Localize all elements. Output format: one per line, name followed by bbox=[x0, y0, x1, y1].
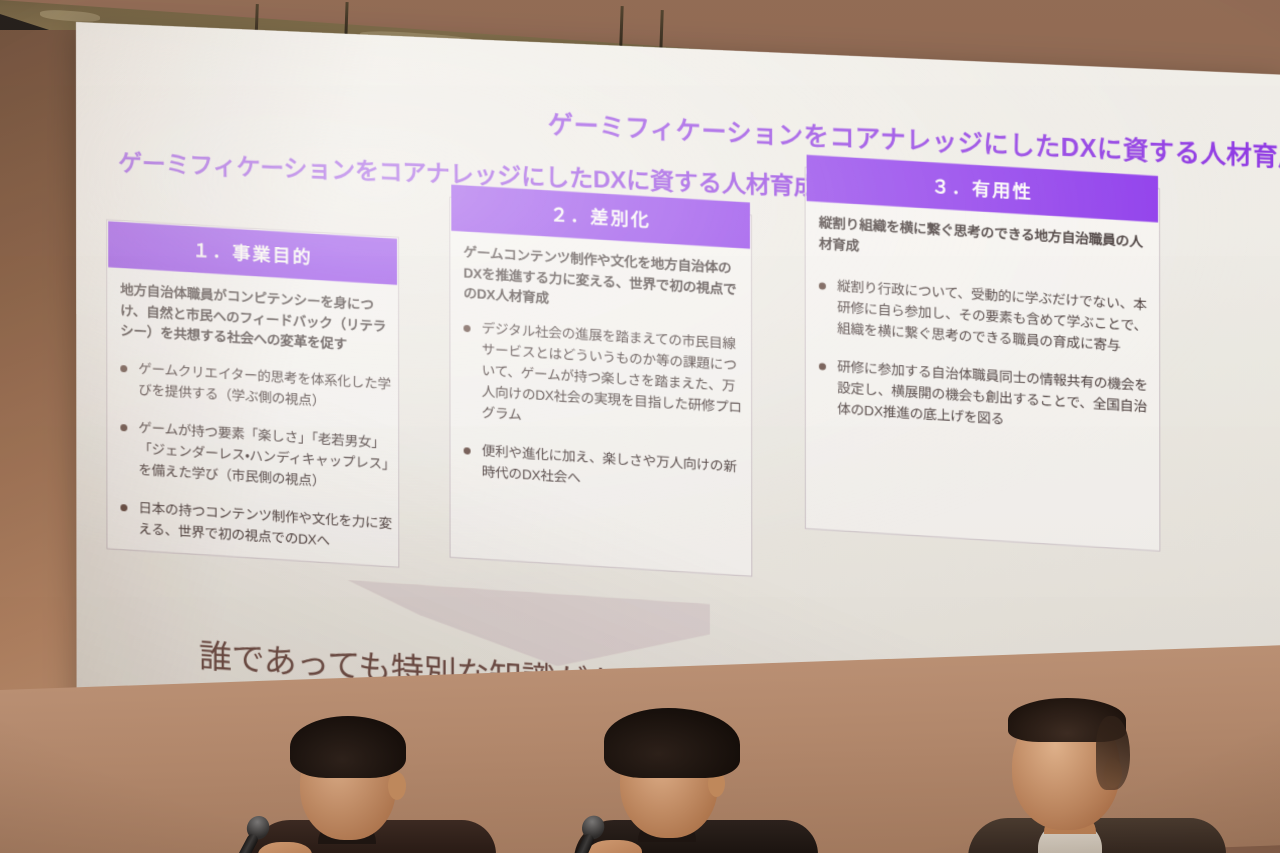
panelist-center-hair bbox=[604, 708, 740, 778]
column-bullets-1: ゲームクリエイター的思考を体系化した学びを提供する（学ぶ側の視点） ゲームが持つ… bbox=[118, 358, 393, 573]
list-item: 研修に参加する自治体職員同士の情報共有の機会を設定し、横展開の機会も創出すること… bbox=[817, 355, 1148, 439]
panelist-center bbox=[570, 708, 820, 853]
panelist-left-hair bbox=[290, 716, 406, 778]
list-item: ゲームが持つ要素「楽しさ」「老若男女」「ジェンダーレス・ハンディキャップレス」を… bbox=[118, 417, 393, 497]
panelist-center-hand bbox=[588, 840, 642, 853]
panelist-left bbox=[248, 716, 498, 853]
panelist-left-ear bbox=[388, 772, 406, 800]
column-bullets-3: 縦割り行政について、受動的に学ぶだけでない、本研修に自ら参加し、その要素も含めて… bbox=[817, 275, 1148, 456]
list-item: 便利や進化に加え、楽しさや万人向けの新時代のDX社会へ bbox=[462, 440, 745, 500]
photo-scene: ゲーミフィケーションをコアナレッジにしたDXに資する人材育成に係る調査及び検討会… bbox=[0, 0, 1280, 853]
ceiling-rod bbox=[619, 6, 623, 46]
column-bullets-2: デジタル社会の進展を踏まえての市民目線サービスとはどういうものか等の課題について… bbox=[461, 318, 744, 517]
list-item: デジタル社会の進展を踏まえての市民目線サービスとはどういうものか等の課題について… bbox=[461, 318, 744, 441]
panelist-right-sideburn bbox=[1096, 716, 1130, 790]
panelist-right bbox=[968, 698, 1228, 853]
list-item: 日本の持つコンテンツ制作や文化を力に変える、世界で初の視点でのDXへ bbox=[118, 496, 393, 555]
